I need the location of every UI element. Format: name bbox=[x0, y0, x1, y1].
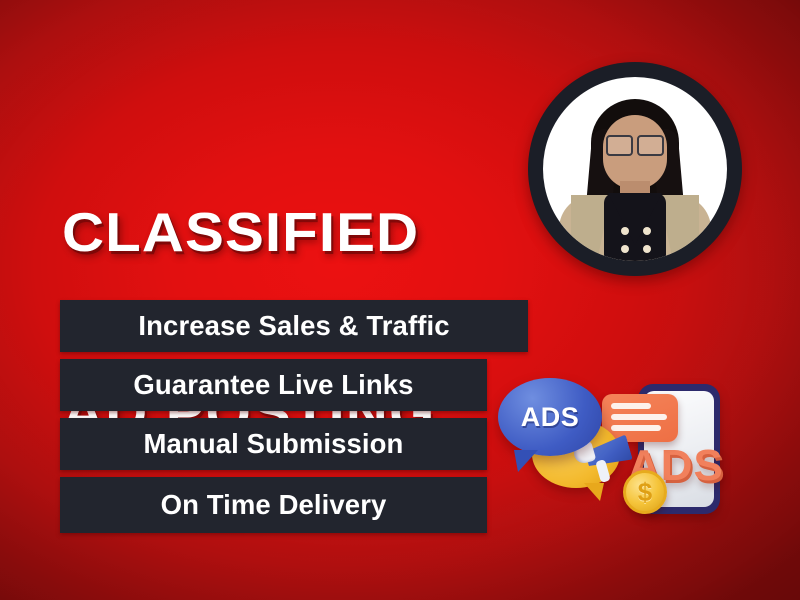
feature-bar-label: Guarantee Live Links bbox=[133, 371, 413, 399]
feature-bar-label: On Time Delivery bbox=[161, 491, 387, 519]
coat-button bbox=[643, 227, 651, 235]
glasses-icon bbox=[606, 135, 664, 152]
ads-bubble-label: ADS bbox=[521, 404, 580, 431]
feature-bar-3: Manual Submission bbox=[60, 418, 487, 470]
chat-line bbox=[611, 403, 651, 409]
feature-bar-label: Manual Submission bbox=[144, 430, 404, 458]
coat-button bbox=[643, 245, 651, 253]
feature-bar-4: On Time Delivery bbox=[60, 477, 487, 533]
headline-line-1: CLASSIFIED bbox=[62, 205, 435, 259]
coat-button bbox=[621, 245, 629, 253]
feature-bar-label: Increase Sales & Traffic bbox=[138, 312, 449, 340]
poster-canvas: CLASSIFIED AD POSTING Increase Sales & T… bbox=[0, 0, 800, 600]
avatar bbox=[528, 62, 742, 276]
chat-line bbox=[611, 414, 667, 420]
avatar-photo bbox=[543, 77, 727, 261]
dollar-symbol: $ bbox=[638, 479, 652, 505]
coat-button bbox=[621, 227, 629, 235]
blue-speech-bubble-icon: ADS bbox=[498, 378, 602, 456]
feature-bar-1: Increase Sales & Traffic bbox=[60, 300, 528, 352]
feature-bar-2: Guarantee Live Links bbox=[60, 359, 487, 411]
ads-illustration: ADS $ ADS bbox=[490, 370, 790, 550]
